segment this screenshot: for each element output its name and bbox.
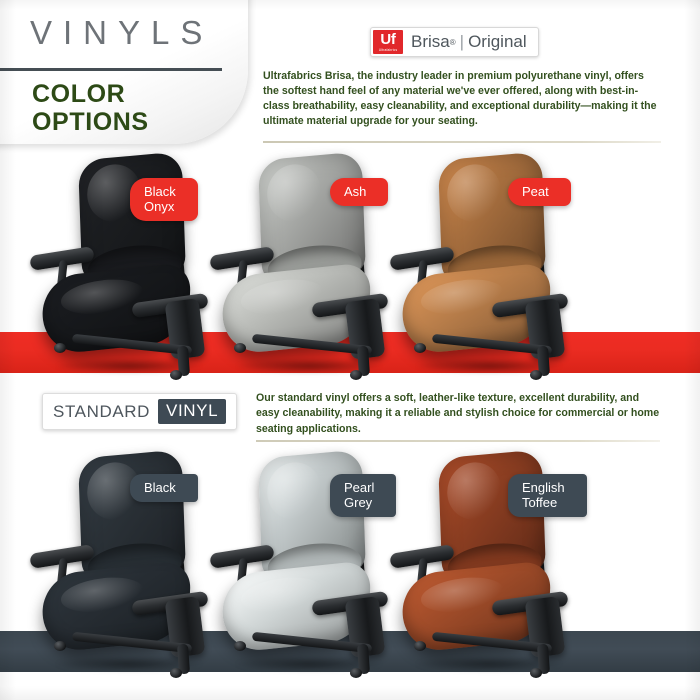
chair-caster-right <box>350 668 362 678</box>
title-divider <box>0 68 222 71</box>
brisa-variant: Original <box>468 32 527 52</box>
chair-caster-right <box>170 668 182 678</box>
registered-mark-icon: ® <box>450 38 456 47</box>
chair-caster-left <box>54 641 66 651</box>
logo-separator: | <box>460 32 464 52</box>
brisa-brand-text: Brisa® | Original <box>403 30 536 54</box>
office-chair-illustration <box>28 150 233 380</box>
standard-vinyl-badge: STANDARD VINYL <box>42 393 237 430</box>
header-rule <box>263 141 661 143</box>
brisa-logo-badge: Uf Ultrafabrics Brisa® | Original <box>370 27 539 57</box>
header: VINYLS COLOR OPTIONS Uf Ultrafabrics Bri… <box>0 0 700 152</box>
vinyl-chip-label: VINYL <box>158 399 226 424</box>
color-name-label: Peat <box>508 178 571 206</box>
subtitle-color: COLOR <box>32 80 125 109</box>
ultrafabrics-logo-icon: Uf Ultrafabrics <box>373 30 403 54</box>
chair-caster-left <box>234 343 246 353</box>
subtitle-options: OPTIONS <box>32 108 149 137</box>
chair-caster-right <box>530 370 542 380</box>
poster-page: VINYLS COLOR OPTIONS Uf Ultrafabrics Bri… <box>0 0 700 700</box>
chair-caster-right <box>170 370 182 380</box>
standard-label: STANDARD <box>53 402 150 422</box>
chair-swatch[interactable] <box>28 150 233 380</box>
chair-caster-right <box>350 370 362 380</box>
standard-rule <box>256 440 660 442</box>
standard-description: Our standard vinyl offers a soft, leathe… <box>256 391 660 437</box>
chair-caster-left <box>414 343 426 353</box>
uf-wordmark: Ultrafabrics <box>379 49 398 52</box>
brisa-description: Ultrafabrics Brisa, the industry leader … <box>263 69 661 129</box>
chair-caster-left <box>414 641 426 651</box>
brisa-brand-name: Brisa <box>411 32 450 52</box>
color-name-label: Black <box>130 474 198 502</box>
uf-monogram: Uf <box>380 32 395 47</box>
chair-caster-left <box>234 641 246 651</box>
color-name-label: Ash <box>330 178 388 206</box>
chair-caster-left <box>54 343 66 353</box>
page-title: VINYLS <box>30 14 213 52</box>
color-name-label: Black Onyx <box>130 178 198 221</box>
color-name-label: Pearl Grey <box>330 474 396 517</box>
chair-caster-right <box>530 668 542 678</box>
color-name-label: English Toffee <box>508 474 587 517</box>
